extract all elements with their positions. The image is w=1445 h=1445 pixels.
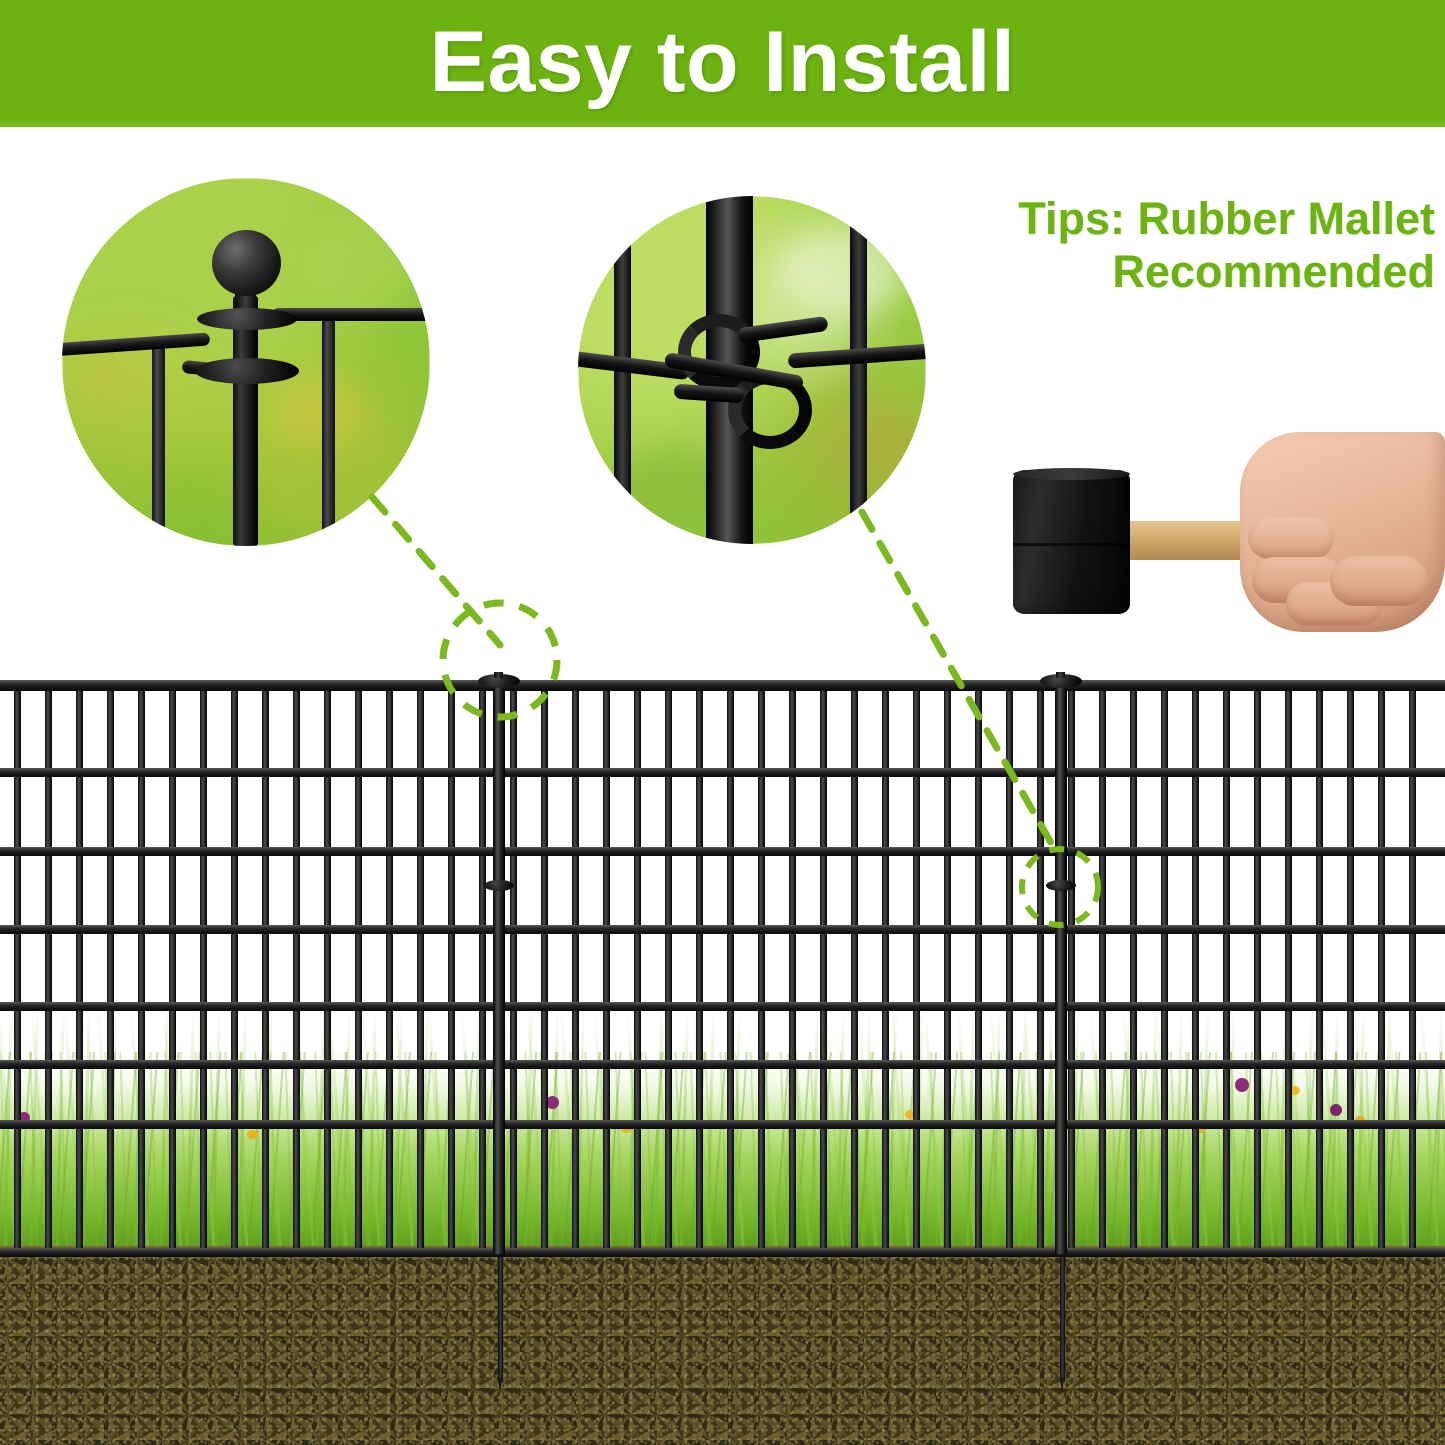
foliage-blob — [302, 218, 422, 318]
fence-vertical-bar — [1037, 680, 1044, 1252]
fence-vertical-bar — [262, 680, 269, 1252]
fence-vertical-bar — [572, 680, 579, 1252]
mallet-head-seam — [1013, 543, 1130, 546]
fence-vertical-bar — [665, 680, 672, 1252]
hand-finger — [1330, 556, 1428, 606]
mallet-head-icon — [1013, 470, 1130, 614]
fence-vertical-bar — [138, 680, 145, 1252]
fence-vertical-bar — [1192, 680, 1199, 1252]
fence-horizontal-rail — [0, 680, 1445, 691]
fence-vertical-bar — [1409, 680, 1416, 1252]
fence-post-neck — [1056, 672, 1065, 678]
fence-vertical-bar — [479, 680, 486, 1252]
finial-lower-collar — [195, 358, 299, 384]
fence-vertical-bar — [1316, 680, 1323, 1252]
ground-stake-tip — [498, 1378, 502, 1394]
fence-vertical-bar — [45, 680, 52, 1252]
mallet-head-top — [1013, 468, 1130, 480]
callout-finial-closeup — [62, 178, 430, 546]
foliage-blob — [828, 406, 926, 486]
fence-vertical-bar — [200, 680, 207, 1252]
fence-horizontal-rail — [0, 925, 1445, 934]
fence-vertical-bar — [975, 680, 982, 1252]
fence-vertical-bar — [1006, 680, 1013, 1252]
header-banner-underline — [0, 122, 1445, 127]
fence-post-knob — [1046, 880, 1076, 891]
hook-vertical-bar — [850, 196, 867, 544]
fence-vertical-bar — [324, 680, 331, 1252]
fence-horizontal-rail — [0, 1002, 1445, 1011]
finial-upper-collar — [197, 308, 297, 330]
fence-horizontal-rail — [0, 1248, 1445, 1257]
foliage-blob — [272, 378, 364, 450]
fence-vertical-bar — [1285, 680, 1292, 1252]
fence-vertical-bar — [1347, 680, 1354, 1252]
fence-vertical-bar — [510, 680, 517, 1252]
product-infographic: Easy to Install Tips: — [0, 0, 1445, 1445]
ground-stake-tip — [1060, 1378, 1064, 1394]
fence-vertical-bar — [758, 680, 765, 1252]
finial-ball-icon — [212, 230, 281, 296]
fence-panel — [0, 672, 1445, 1272]
page-title: Easy to Install — [0, 8, 1445, 116]
fence-vertical-bar — [417, 680, 424, 1252]
fence-vertical-bar — [789, 680, 796, 1252]
tips-line-1: Tips: Rubber Mallet — [955, 192, 1435, 245]
fence-vertical-bar — [169, 680, 176, 1252]
fence-post — [1055, 680, 1067, 1254]
fence-vertical-bar — [1130, 680, 1137, 1252]
soil-layer — [0, 1248, 1445, 1445]
fence-vertical-bar — [1068, 680, 1075, 1252]
fence-vertical-bar — [1254, 680, 1261, 1252]
fence-vertical-bar — [386, 680, 393, 1252]
callout-hook-closeup — [578, 196, 926, 544]
fence-vertical-bar — [76, 680, 83, 1252]
fence-vertical-bar — [355, 680, 362, 1252]
fence-horizontal-rail — [0, 847, 1445, 856]
fence-vertical-bar — [944, 680, 951, 1252]
fence-vertical-bar — [231, 680, 238, 1252]
fence-vertical-bar — [107, 680, 114, 1252]
fence-post — [493, 680, 505, 1254]
fence-vertical-bar — [14, 680, 21, 1252]
fence-post-neck — [494, 672, 503, 678]
tips-text: Tips: Rubber Mallet Recommended — [955, 192, 1435, 298]
finial-vertical-bar — [152, 346, 165, 546]
finial-vertical-bar — [322, 310, 335, 546]
fence-vertical-bar — [448, 680, 455, 1252]
fence-vertical-bar — [696, 680, 703, 1252]
fence-vertical-bar — [820, 680, 827, 1252]
fence-vertical-bar — [634, 680, 641, 1252]
fence-vertical-bar — [727, 680, 734, 1252]
fence-vertical-bar — [882, 680, 889, 1252]
tips-line-2: Recommended — [955, 245, 1435, 298]
fence-vertical-bar — [603, 680, 610, 1252]
fence-horizontal-rail — [0, 768, 1445, 777]
fence-horizontal-rail — [0, 1120, 1445, 1129]
fence-vertical-bar — [541, 680, 548, 1252]
foliage-blob — [778, 226, 908, 316]
fence-vertical-bar — [1099, 680, 1106, 1252]
foliage-blob — [72, 353, 144, 413]
fence-post-knob — [484, 880, 514, 891]
hand-thumb — [1248, 517, 1334, 559]
fence-vertical-bar — [913, 680, 920, 1252]
fence-horizontal-rail — [0, 1060, 1445, 1069]
fence-vertical-bar — [851, 680, 858, 1252]
fence-vertical-bar — [1223, 680, 1230, 1252]
fence-vertical-bar — [293, 680, 300, 1252]
finial-post-shaft — [233, 296, 258, 546]
fence-vertical-bar — [1378, 680, 1385, 1252]
fence-scene — [0, 672, 1445, 1445]
fence-vertical-bar — [1161, 680, 1168, 1252]
